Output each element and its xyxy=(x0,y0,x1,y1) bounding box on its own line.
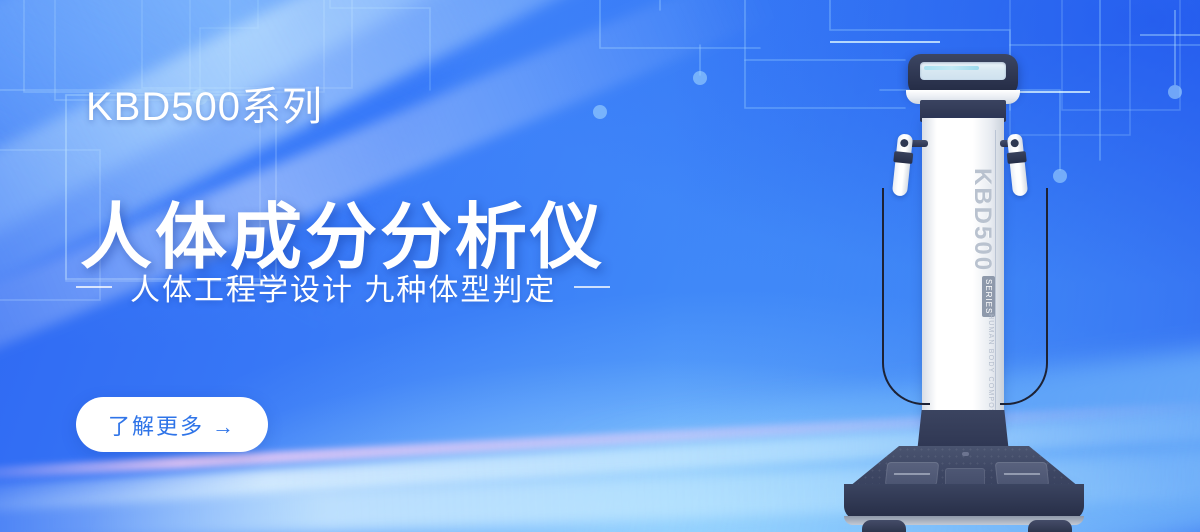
foot-electrode-left-bar xyxy=(894,473,930,475)
hand-electrode-right-top xyxy=(1010,139,1019,148)
cable-left xyxy=(882,188,930,405)
device-brand-label: KBD500 xyxy=(968,168,996,272)
banner-content: KBD500系列 人体成分分析仪 人体工程学设计 九种体型判定 了解更多 → xyxy=(0,0,700,532)
subtitle-right-dash xyxy=(574,286,610,288)
hand-electrode-left-grip xyxy=(893,151,913,164)
banner-eyebrow: KBD500系列 xyxy=(86,74,323,132)
device-column: KBD500 SERIES HUMAN BODY COMPOSITION ANA… xyxy=(922,118,1004,428)
learn-more-button[interactable]: 了解更多 → xyxy=(76,397,268,452)
banner-subtitle: 人体工程学设计 九种体型判定 xyxy=(76,265,610,309)
foot-electrode-left xyxy=(885,462,940,486)
foot-electrode-right xyxy=(995,462,1050,486)
hand-electrode-left-top xyxy=(900,139,909,148)
device-series-badge: SERIES xyxy=(982,276,995,317)
device-platform-body xyxy=(844,484,1084,520)
platform-foot-left xyxy=(862,520,906,532)
hand-electrode-right-grip xyxy=(1007,151,1027,164)
learn-more-label: 了解更多 → xyxy=(108,409,236,441)
platform-indicator xyxy=(962,452,969,456)
hero-banner: KBD500系列 人体成分分析仪 人体工程学设计 九种体型判定 了解更多 → K… xyxy=(0,0,1200,532)
device-screen xyxy=(920,62,1006,80)
subtitle-text: 人体工程学设计 九种体型判定 xyxy=(130,265,556,309)
subtitle-left-dash xyxy=(76,286,112,288)
body-composition-analyzer-image: KBD500 SERIES HUMAN BODY COMPOSITION ANA… xyxy=(820,38,1140,532)
platform-foot-right xyxy=(1028,520,1072,532)
cable-right xyxy=(1000,188,1048,405)
foot-electrode-right-bar xyxy=(1004,473,1040,475)
